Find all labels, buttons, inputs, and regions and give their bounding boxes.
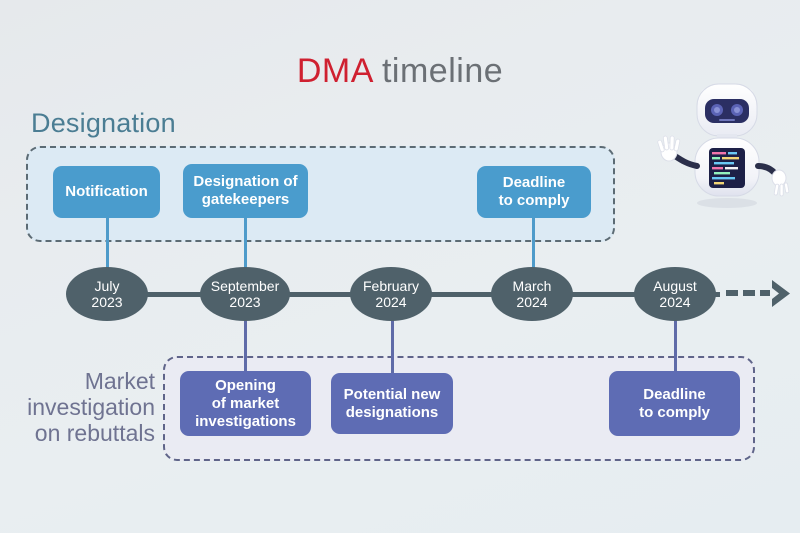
timeline-node-august-2024[interactable]: August 2024 [634, 267, 716, 321]
event-box-notification[interactable]: Notification [53, 166, 160, 218]
connector-deadline-to-comply-bottom [674, 318, 677, 374]
node-month: March [513, 278, 552, 294]
event-box-deadline-to-comply-bottom[interactable]: Deadline to comply [609, 371, 740, 436]
event-box-deadline-to-comply-top[interactable]: Deadline to comply [477, 166, 591, 218]
connector-opening-of-market-investigations [244, 318, 247, 374]
node-month: September [211, 278, 279, 294]
connector-deadline-to-comply-top [532, 218, 535, 270]
node-year: 2024 [659, 294, 690, 310]
connector-designation-of-gatekeepers [244, 218, 247, 270]
node-year: 2023 [229, 294, 260, 310]
node-year: 2023 [91, 294, 122, 310]
node-year: 2024 [375, 294, 406, 310]
node-month: August [653, 278, 697, 294]
section-label-designation: Designation [31, 108, 176, 139]
timeline-node-march-2024[interactable]: March 2024 [491, 267, 573, 321]
dashed-arrow-icon [726, 278, 792, 310]
robot-shadow [697, 198, 757, 208]
connector-potential-new-designations [391, 318, 394, 374]
section-label-market-investigation: Market investigation on rebuttals [15, 368, 155, 446]
robot-arm-left [675, 156, 697, 166]
timeline-node-september-2023[interactable]: September 2023 [200, 267, 290, 321]
robot-mouth [719, 119, 735, 121]
robot-mascot [655, 74, 795, 214]
timeline-node-july-2023[interactable]: July 2023 [66, 267, 148, 321]
robot-hand-right [772, 170, 789, 196]
connector-notification [106, 218, 109, 270]
title-accent-word: DMA [297, 52, 372, 90]
node-month: February [363, 278, 419, 294]
event-box-potential-new-designations[interactable]: Potential new designations [331, 373, 453, 434]
title-rest: timeline [372, 52, 503, 90]
node-month: July [95, 278, 120, 294]
node-year: 2024 [516, 294, 547, 310]
event-box-opening-of-market-investigations[interactable]: Opening of market investigations [180, 371, 311, 436]
timeline-node-february-2024[interactable]: February 2024 [350, 267, 432, 321]
infographic-canvas: DMA timeline Designation Market investig… [0, 0, 800, 533]
event-box-designation-of-gatekeepers[interactable]: Designation of gatekeepers [183, 164, 308, 218]
